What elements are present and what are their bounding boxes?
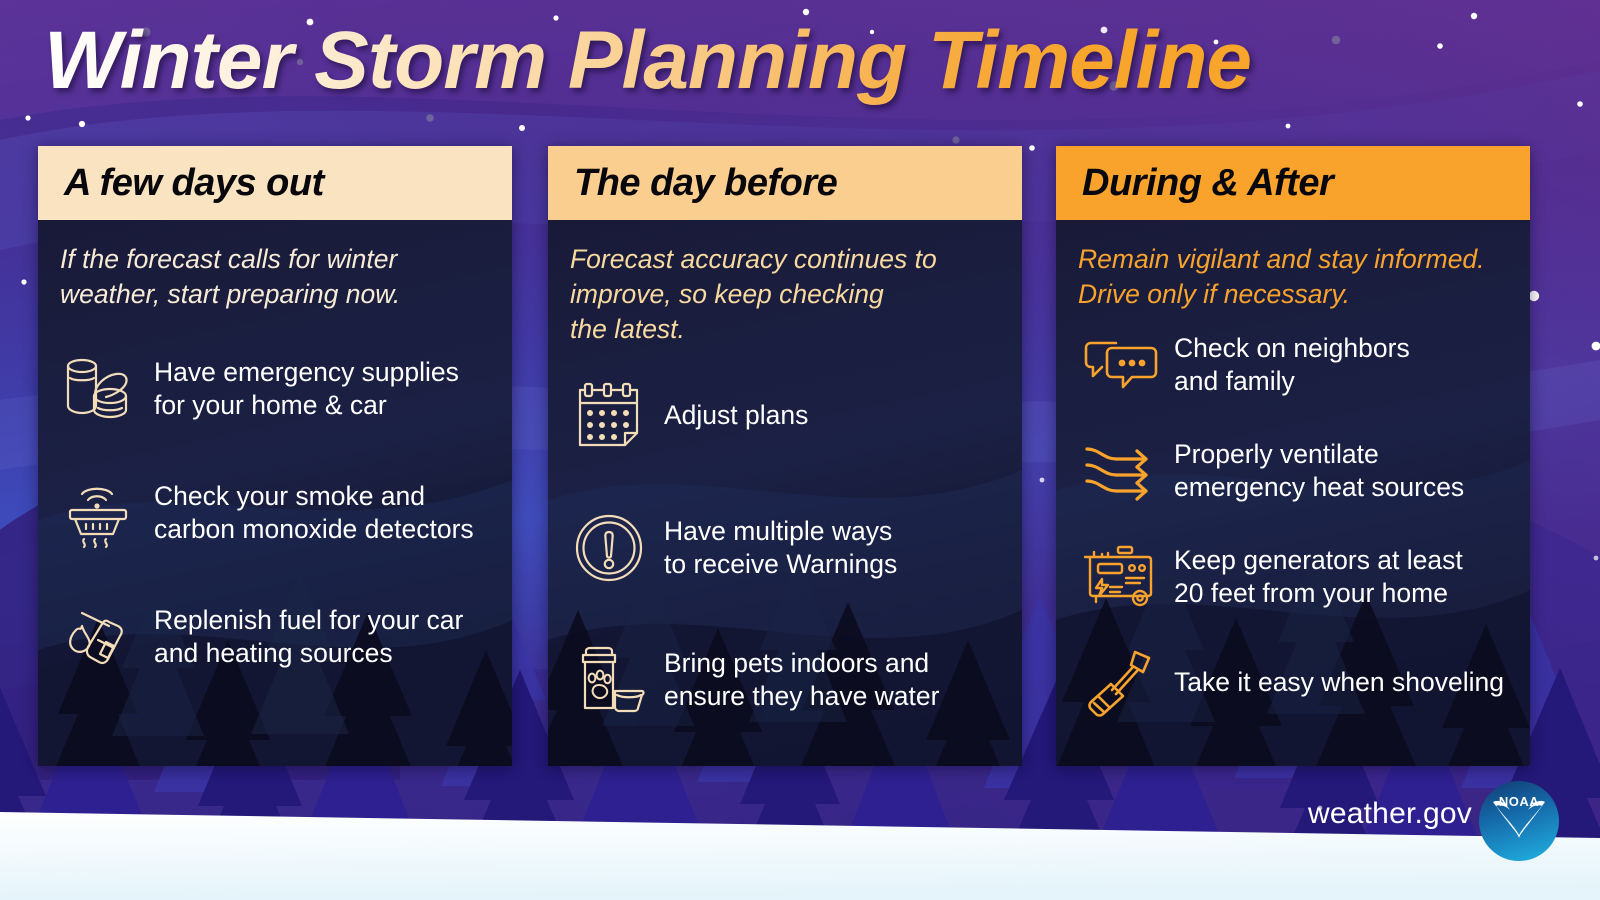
card-body-2: Forecast accuracy continues to improve, … bbox=[548, 220, 1022, 766]
list-item: Keep generators at least 20 feet from yo… bbox=[1078, 538, 1510, 616]
alert-exclamation-icon bbox=[570, 509, 648, 587]
timeline-card-the-day-before: The day before Forecast accuracy continu… bbox=[548, 146, 1022, 766]
card-header-1: A few days out bbox=[38, 146, 512, 220]
list-item-label: Check on neighbors and family bbox=[1174, 332, 1410, 398]
card-body-3: Remain vigilant and stay informed. Drive… bbox=[1056, 220, 1530, 766]
infographic-canvas: Winter Storm Planning Timeline Winter St… bbox=[0, 0, 1600, 900]
card-header-2: The day before bbox=[548, 146, 1022, 220]
list-item-label: Keep generators at least 20 feet from yo… bbox=[1174, 544, 1463, 610]
list-item-label: Check your smoke and carbon monoxide det… bbox=[154, 480, 474, 546]
card-lede-3: Remain vigilant and stay informed. Drive… bbox=[1078, 242, 1510, 312]
footer: weather.gov NOAA bbox=[1308, 780, 1560, 848]
pet-food-bowl-icon bbox=[570, 641, 648, 719]
timeline-card-a-few-days-out: A few days out If the forecast calls for bbox=[38, 146, 512, 766]
weather-gov-link[interactable]: weather.gov bbox=[1308, 797, 1472, 831]
fuel-nozzle-icon bbox=[60, 598, 138, 676]
list-item: Properly ventilate emergency heat source… bbox=[1078, 432, 1510, 510]
card-body-1: If the forecast calls for winter weather… bbox=[38, 220, 512, 766]
generator-icon bbox=[1078, 538, 1164, 616]
list-item: Bring pets indoors and ensure they have … bbox=[570, 641, 1002, 719]
list-item-label: Properly ventilate emergency heat source… bbox=[1174, 438, 1464, 504]
list-item: Take it easy when shoveling bbox=[1078, 644, 1510, 722]
list-item-label: Replenish fuel for your car and heating … bbox=[154, 604, 463, 670]
chat-bubbles-icon bbox=[1078, 326, 1164, 404]
list-item-label: Have multiple ways to receive Warnings bbox=[664, 515, 897, 581]
airflow-arrows-icon bbox=[1078, 432, 1164, 510]
list-item-label: Adjust plans bbox=[664, 399, 808, 432]
list-item: Have emergency supplies for your home & … bbox=[60, 350, 492, 428]
card-items-1: Have emergency supplies for your home & … bbox=[60, 316, 492, 754]
card-items-3: Check on neighbors and family bbox=[1078, 316, 1510, 754]
noaa-logo: NOAA bbox=[1478, 780, 1560, 862]
list-item: Replenish fuel for your car and heating … bbox=[60, 598, 492, 676]
supplies-cans-icon bbox=[60, 350, 138, 428]
timeline-card-during-and-after: During & After Remain vigilant and stay … bbox=[1056, 146, 1530, 766]
list-item-label: Bring pets indoors and ensure they have … bbox=[664, 647, 939, 713]
card-header-3: During & After bbox=[1056, 146, 1530, 220]
list-item: Have multiple ways to receive Warnings bbox=[570, 509, 1002, 587]
card-heading-1: A few days out bbox=[64, 162, 324, 205]
card-heading-2: The day before bbox=[574, 162, 837, 205]
list-item-label: Have emergency supplies for your home & … bbox=[154, 356, 459, 422]
list-item: Check on neighbors and family bbox=[1078, 326, 1510, 404]
card-lede-2: Forecast accuracy continues to improve, … bbox=[570, 242, 1002, 347]
page-title: Winter Storm Planning Timeline bbox=[44, 14, 1251, 108]
list-item-label: Take it easy when shoveling bbox=[1174, 666, 1504, 699]
list-item: Adjust plans bbox=[570, 377, 1002, 455]
calendar-icon bbox=[570, 377, 648, 455]
noaa-logo-text: NOAA bbox=[1499, 794, 1539, 809]
smoke-detector-icon bbox=[60, 474, 138, 552]
list-item: Check your smoke and carbon monoxide det… bbox=[60, 474, 492, 552]
card-heading-3: During & After bbox=[1082, 162, 1333, 205]
card-items-2: Adjust plans Have multiple ways to recei… bbox=[570, 351, 1002, 754]
snow-shovel-icon bbox=[1078, 644, 1164, 722]
card-lede-1: If the forecast calls for winter weather… bbox=[60, 242, 492, 312]
